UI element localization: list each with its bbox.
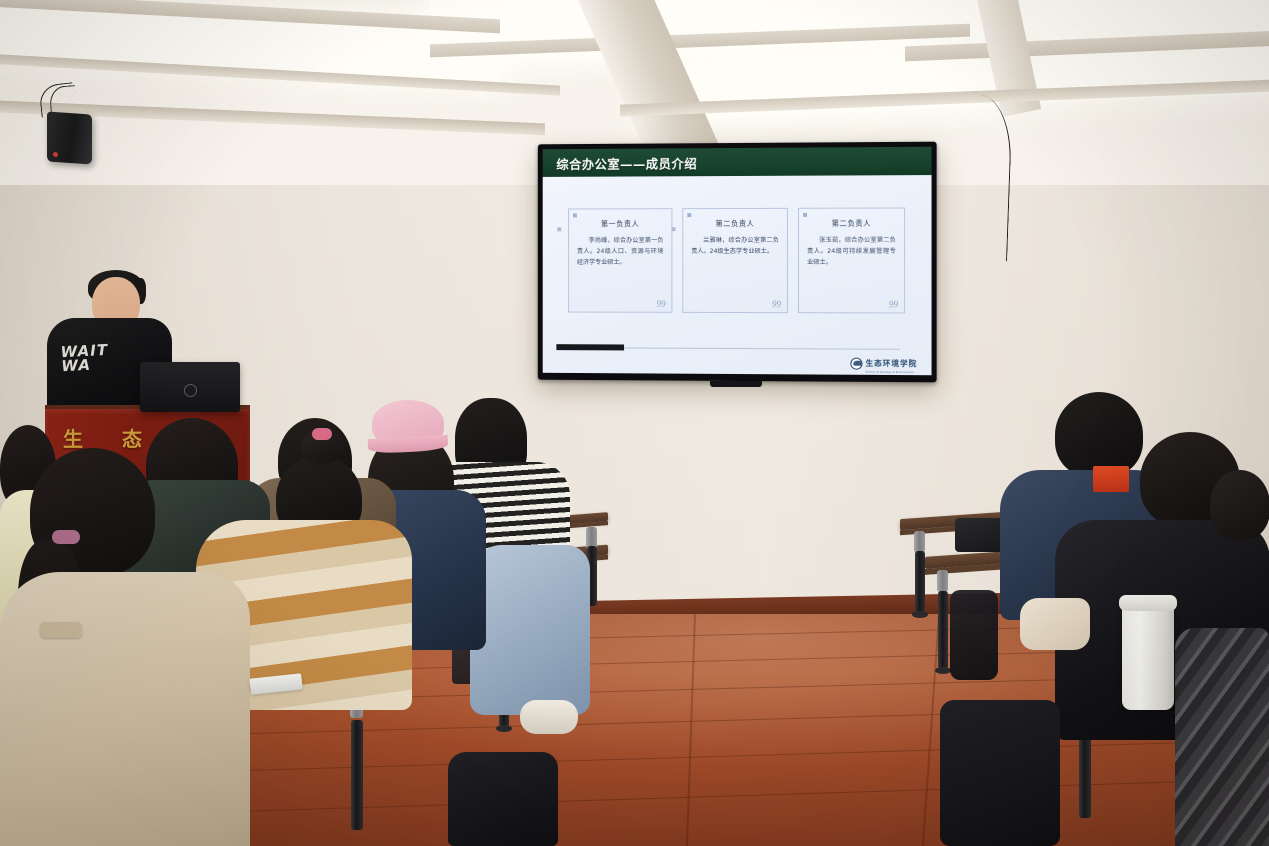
backpack <box>950 590 998 680</box>
card-heading: 第一负责人 <box>577 219 664 229</box>
card-body: 兰雅琳，综合办公室第二负责人。24级生态学专业硕士。 <box>691 236 779 258</box>
card-body: 李尚峰，综合办公室第一负责人。24级人口、资源与环境经济学专业硕士。 <box>577 236 664 268</box>
decor-square-icon <box>671 227 675 231</box>
slide-title: 综合办公室——成员介绍 <box>556 153 697 173</box>
cream-sleeve <box>1020 598 1090 650</box>
card-body: 张玉茹，综合办公室第二负责人。24级可持续发展管理专业硕士。 <box>807 236 896 269</box>
wall-mounted-tv[interactable]: 综合办公室——成员介绍 第一负责人 李尚峰，综合办公室第一负责人。24级人口、资… <box>538 142 937 383</box>
coat-button-flap <box>40 622 82 638</box>
backpack <box>940 700 1060 846</box>
decor-square-icon <box>687 213 691 217</box>
hair-tie <box>312 428 332 440</box>
red-box <box>1093 466 1129 492</box>
hair-tie <box>52 530 80 544</box>
podium-engraving: 生 态 <box>63 423 158 452</box>
quote-mark-icon: 99 <box>889 299 898 309</box>
decor-square-icon <box>557 227 561 231</box>
dell-logo-icon <box>182 382 198 398</box>
member-card: 第一负责人 李尚峰，综合办公室第一负责人。24级人口、资源与环境经济学专业硕士。… <box>568 208 672 313</box>
slide-footer: 生态环境学院 School of Ecology & Environment <box>543 339 932 375</box>
card-heading: 第二负责人 <box>807 219 896 229</box>
decor-square-icon <box>573 213 577 217</box>
quote-mark-icon: 99 <box>772 299 781 309</box>
classroom-photo: 综合办公室——成员介绍 第一负责人 李尚峰，综合办公室第一负责人。24级人口、资… <box>0 0 1269 846</box>
school-logo: 生态环境学院 School of Ecology & Environment <box>850 353 917 375</box>
slide-progress-fill <box>556 344 624 350</box>
slide-body: 第一负责人 李尚峰，综合办公室第一负责人。24级人口、资源与环境经济学专业硕士。… <box>543 175 932 375</box>
quote-mark-icon: 99 <box>657 299 666 309</box>
tumbler-cup <box>1122 605 1174 710</box>
shoe <box>520 700 578 734</box>
tv-stand <box>710 381 762 387</box>
member-card: 第二负责人 张玉茹，综合办公室第二负责人。24级可持续发展管理专业硕士。 99 <box>798 207 905 313</box>
sweater-graphic: WAITWA <box>60 343 109 374</box>
backpack <box>448 752 558 846</box>
card-heading: 第二负责人 <box>691 219 779 229</box>
slide-title-bar: 综合办公室——成员介绍 <box>543 147 932 177</box>
decor-square-icon <box>803 213 807 217</box>
member-cards: 第一负责人 李尚峰，综合办公室第一负责人。24级人口、资源与环境经济学专业硕士。… <box>556 207 917 313</box>
logo-text-cn: 生态环境学院 <box>866 359 918 368</box>
member-card: 第二负责人 兰雅琳，综合办公室第二负责人。24级生态学专业硕士。 99 <box>682 208 788 313</box>
tv-power-cable <box>927 94 1013 262</box>
cup-lid <box>1119 595 1177 611</box>
mountain-logo-icon <box>850 357 862 369</box>
dell-monitor <box>140 362 240 412</box>
logo-text-en: School of Ecology & Environment <box>866 371 918 374</box>
wall-speaker-icon <box>47 111 92 164</box>
tv-screen: 综合办公室——成员介绍 第一负责人 李尚峰，综合办公室第一负责人。24级人口、资… <box>543 147 932 375</box>
